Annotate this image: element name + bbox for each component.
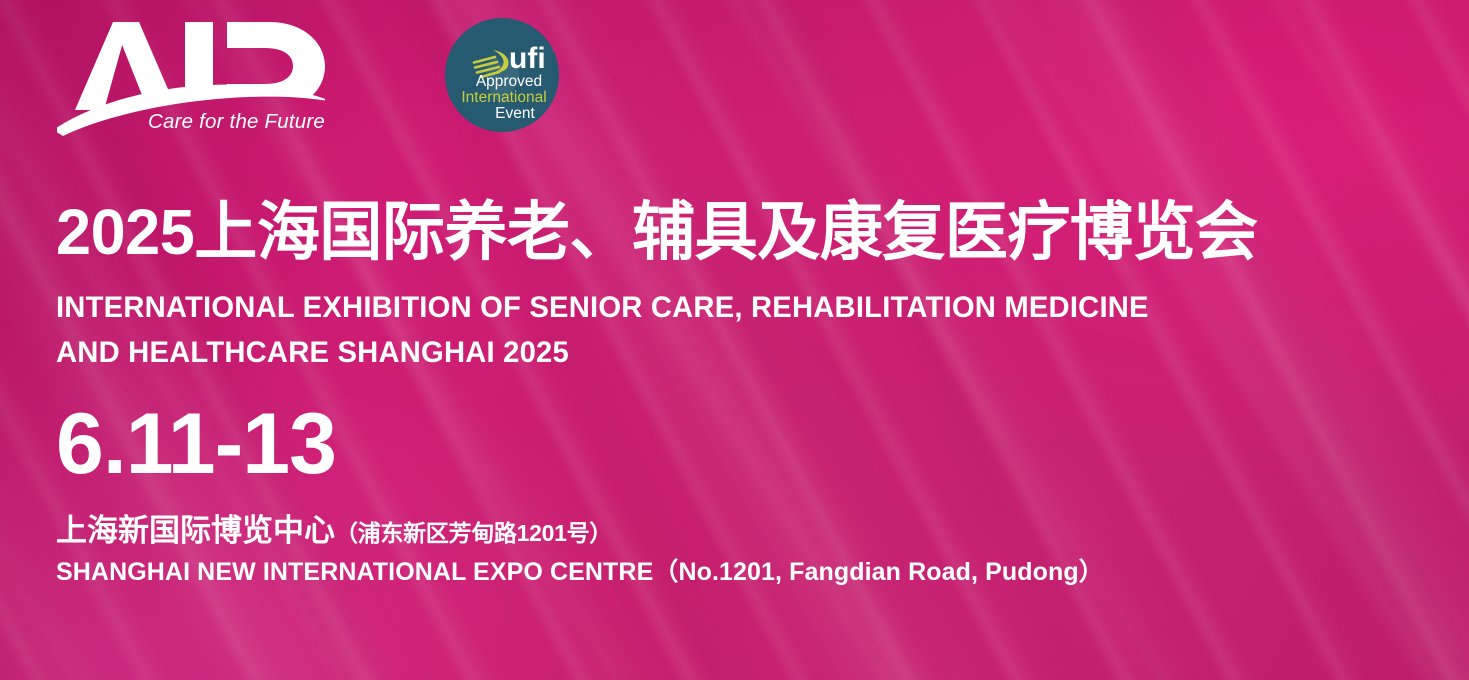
event-title-en: INTERNATIONAL EXHIBITION OF SENIOR CARE,… xyxy=(56,286,1436,376)
ufi-badge-mark: ufi Approved International Event xyxy=(445,18,559,132)
event-title-cn: 2025上海国际养老、辅具及康复医疗博览会 xyxy=(56,200,1415,264)
event-venue-cn: 上海新国际博览中心（浦东新区芳甸路1201号） xyxy=(56,513,1436,550)
event-title-en-line1: INTERNATIONAL EXHIBITION OF SENIOR CARE,… xyxy=(56,286,1422,331)
logo-row: Care for the Future ufi Approved Interna… xyxy=(57,18,559,136)
ufi-line-event: Event xyxy=(495,105,535,122)
event-venue-cn-address: （浦东新区芳甸路1201号） xyxy=(335,520,612,546)
event-banner: Care for the Future ufi Approved Interna… xyxy=(0,0,1469,680)
ufi-badge[interactable]: ufi Approved International Event xyxy=(445,18,559,132)
aid-logo[interactable]: Care for the Future xyxy=(57,18,325,136)
event-dates: 6.11-13 xyxy=(56,404,1436,486)
event-venue-en: SHANGHAI NEW INTERNATIONAL EXPO CENTRE（N… xyxy=(56,557,1436,587)
event-info-block: 2025上海国际养老、辅具及康复医疗博览会 INTERNATIONAL EXHI… xyxy=(56,200,1436,587)
event-venue-cn-name: 上海新国际博览中心 xyxy=(56,513,335,548)
ufi-line-international: International xyxy=(461,89,546,106)
aid-tagline: Care for the Future xyxy=(93,110,325,134)
ufi-line-approved: Approved xyxy=(476,73,542,90)
ufi-wordmark: ufi xyxy=(509,42,546,75)
event-title-en-line2: AND HEALTHCARE SHANGHAI 2025 xyxy=(56,331,1422,376)
